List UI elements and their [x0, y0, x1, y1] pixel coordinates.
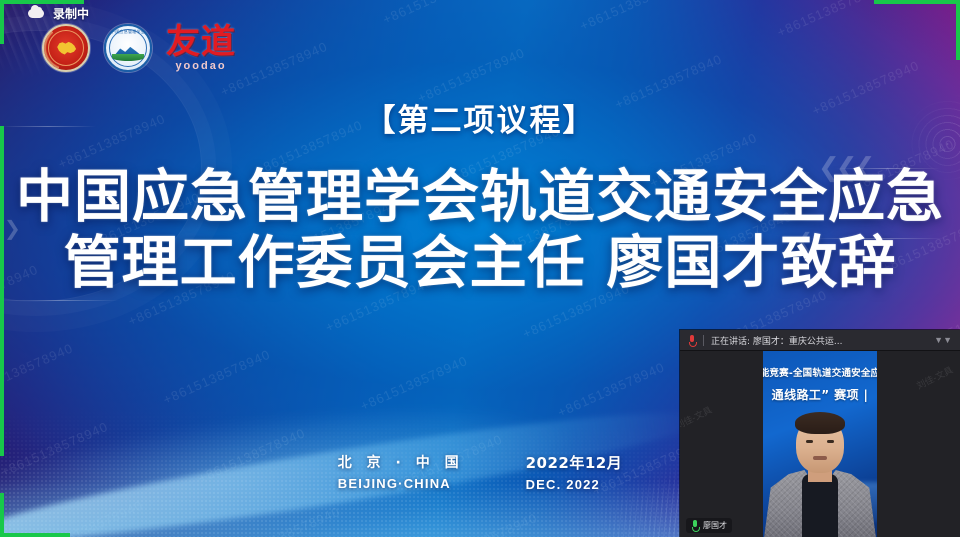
speaker-avatar	[763, 410, 877, 537]
pip-watermark-2: 刘佳-文具	[914, 363, 955, 392]
slide-title: 中国应急管理学会轨道交通安全应急 管理工作委员会主任 廖国才致辞	[0, 168, 960, 299]
speaker-video-panel[interactable]: 正在讲话: 廖国才：重庆公共运... ▼▼ 刘佳-文具 刘佳-文具 能竞赛-全国…	[680, 330, 960, 537]
screen-share-stage: ❮❮❮ ❮ ❯ +8615138578940+8615138578940+861…	[0, 0, 960, 537]
pip-active-speaker-title: 正在讲话: 廖国才：重庆公共运...	[711, 334, 842, 347]
recording-indicator: 录制中	[28, 5, 89, 22]
footer-place: 北 京 · 中 国 BEIJING·CHINA	[338, 452, 464, 492]
yoodao-wordmark-en: yoodao	[175, 61, 226, 72]
chevron-collapse-icon[interactable]: ▼▼	[934, 335, 952, 345]
mic-active-green-icon	[691, 520, 699, 531]
agenda-label: 【第二项议程】	[0, 95, 960, 140]
footer-date-en: DEC. 2022	[526, 477, 623, 492]
slide-title-line-2: 管理工作委员会主任 廖国才致辞	[0, 228, 960, 299]
pip-header-bar[interactable]: 正在讲话: 廖国才：重庆公共运... ▼▼	[680, 330, 960, 351]
backdrop-text-line-2: 通线路工” 赛项 |	[763, 386, 877, 403]
cloud-recording-icon	[28, 9, 44, 18]
recording-label: 录制中	[53, 5, 89, 22]
decor-line-left-1	[0, 300, 120, 301]
slide-title-line-1: 中国应急管理学会轨道交通安全应急	[0, 168, 960, 228]
speaker-name-label: 廖国才	[703, 520, 727, 531]
backdrop-text-line-1: 能竞赛-全国轨道交通安全应	[763, 365, 877, 379]
pip-video-body[interactable]: 刘佳-文具 刘佳-文具 能竞赛-全国轨道交通安全应 通线路工” 赛项 |	[680, 351, 960, 537]
pip-header-divider	[703, 335, 704, 346]
speaker-video-feed: 能竞赛-全国轨道交通安全应 通线路工” 赛项 |	[763, 351, 877, 537]
pip-watermark-1: 刘佳-文具	[680, 403, 714, 432]
footer-place-en: BEIJING·CHINA	[338, 476, 464, 491]
china-emergency-management-emblem-icon	[42, 24, 90, 72]
yoodao-wordmark-cn: 友道	[166, 25, 236, 59]
footer-place-cn: 北 京 · 中 国	[338, 452, 464, 472]
speaker-name-tag: 廖国才	[686, 518, 732, 533]
rail-transit-association-badge-icon: 中国应急管理学会	[104, 24, 152, 72]
logo-row: 中国应急管理学会 友道 yoodao	[42, 24, 236, 72]
mic-muted-red-icon	[688, 335, 696, 346]
footer-date-cn: 2022年12月	[526, 452, 623, 473]
footer-date: 2022年12月 DEC. 2022	[526, 452, 623, 492]
badge-micro-text: 中国应急管理学会	[106, 29, 150, 35]
yoodao-wordmark: 友道 yoodao	[166, 25, 236, 72]
